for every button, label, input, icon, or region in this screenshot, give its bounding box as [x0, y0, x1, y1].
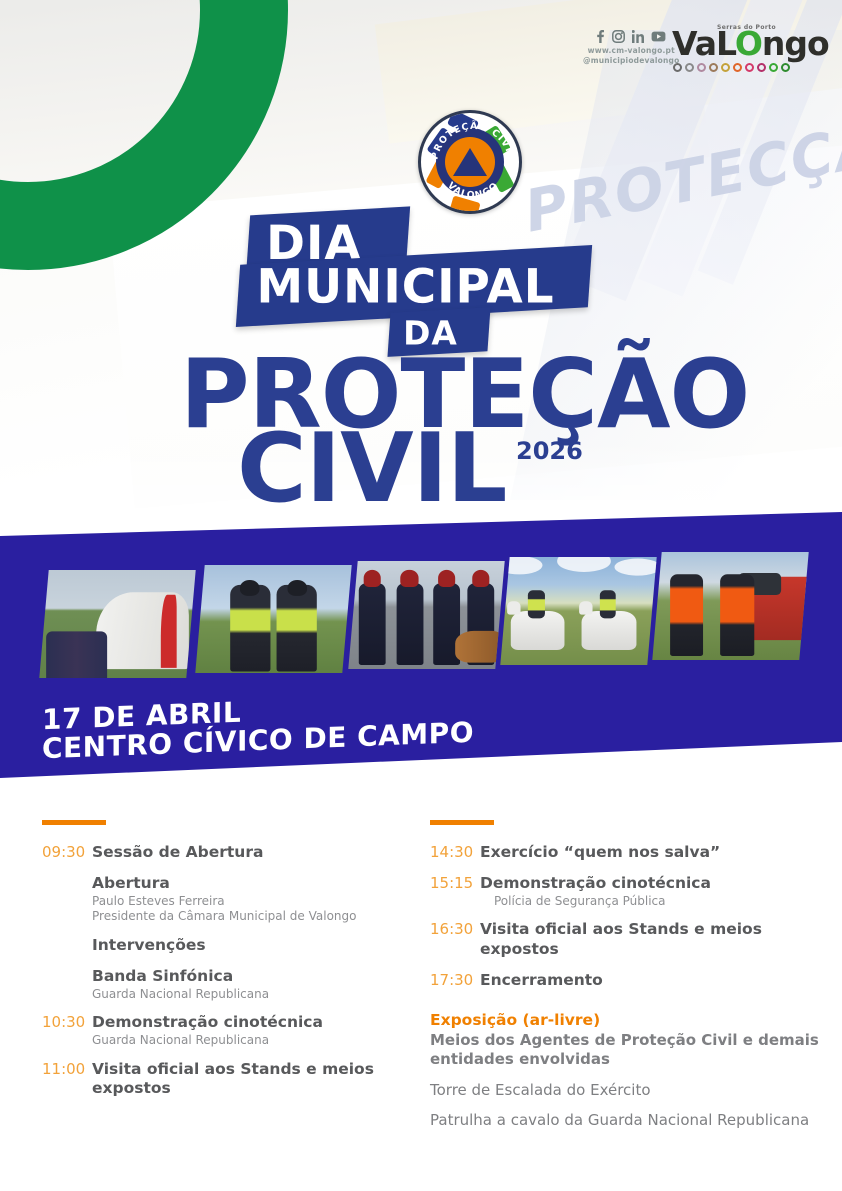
program-subtitle: Paulo Esteves Ferreira — [92, 894, 422, 910]
protecao-civil-emblem: PROTEÇÃO CIVIL VALONGO — [418, 110, 522, 214]
valongo-dots — [672, 63, 790, 72]
program-title: Encerramento — [480, 971, 822, 991]
program-subtitle: Guarda Nacional Republicana — [92, 987, 422, 1003]
program-time: 10:30 — [42, 1013, 92, 1033]
valongo-dot — [709, 63, 718, 72]
exposicao-heading: Exposição (ar-livre) — [430, 1011, 822, 1029]
program-column-morning: 09:30Sessão de AberturaAberturaPaulo Est… — [42, 820, 422, 1110]
program-title: Demonstração cinotécnica — [92, 1013, 422, 1033]
program-title: Banda Sinfónica — [92, 967, 422, 987]
program-subrow: Intervenções — [92, 936, 422, 956]
program-subtitle: Presidente da Câmara Municipal de Valong… — [92, 909, 422, 925]
social-urls: www.cm-valongo.pt @municipiodevalongo — [583, 46, 679, 66]
program-subtitle: Polícia de Segurança Pública — [494, 894, 822, 910]
accent-rule-left — [42, 820, 106, 825]
valongo-dot — [769, 63, 778, 72]
program-row: 10:30Demonstração cinotécnicaGuarda Naci… — [42, 1013, 422, 1048]
valongo-word-part2: ngo — [762, 24, 829, 63]
program-time: 15:15 — [430, 874, 480, 894]
program-row-body: Demonstração cinotécnicaGuarda Nacional … — [92, 1013, 422, 1048]
program-title: Visita oficial aos Stands e meios expost… — [92, 1060, 422, 1100]
website-url[interactable]: www.cm-valongo.pt — [583, 46, 679, 56]
year-label: 2026 — [516, 437, 583, 465]
program-row-body: Sessão de Abertura — [92, 843, 422, 863]
program-row-body: Encerramento — [480, 971, 822, 991]
valongo-dot — [721, 63, 730, 72]
valongo-word-o: O — [735, 24, 762, 63]
program-title: Demonstração cinotécnica — [480, 874, 822, 894]
emblem-bottom-text: VALONGO — [445, 180, 501, 201]
main-title-civil: CIVIL — [237, 424, 506, 514]
linkedin-icon[interactable] — [632, 30, 644, 43]
photo-tent-protecao-civil — [39, 570, 195, 678]
program-column-afternoon: 14:30Exercício “quem nos salva”15:15Demo… — [430, 820, 822, 1131]
emblem-top-text: PROTEÇÃO CIVIL — [429, 121, 516, 161]
social-block: www.cm-valongo.pt @municipiodevalongo — [583, 30, 679, 66]
program-row-body: Visita oficial aos Stands e meios expost… — [92, 1060, 422, 1100]
program-row: 15:15Demonstração cinotécnicaPolícia de … — [430, 874, 822, 909]
facebook-icon[interactable] — [596, 30, 605, 43]
exposicao-block: Exposição (ar-livre) Meios dos Agentes d… — [430, 1011, 822, 1131]
program-title: Sessão de Abertura — [92, 843, 422, 863]
accent-rule-right — [430, 820, 494, 825]
valongo-dot — [781, 63, 790, 72]
emblem-ring-text: PROTEÇÃO CIVIL VALONGO — [421, 113, 522, 214]
program-time: 17:30 — [430, 971, 480, 991]
valongo-word-part1: VaL — [672, 24, 735, 63]
poster: PROTECÇÃO CIVIL www.cm-valongo.pt @munic… — [0, 0, 842, 1191]
social-icons — [583, 30, 679, 43]
program-row: 11:00Visita oficial aos Stands e meios e… — [42, 1060, 422, 1100]
photo-k9-team-marching — [348, 561, 504, 669]
valongo-dot — [697, 63, 706, 72]
valongo-logo: Serras do Porto VaLOngo — [672, 24, 790, 72]
program-title: Exercício “quem nos salva” — [480, 843, 822, 863]
youtube-icon[interactable] — [651, 31, 666, 42]
photo-rescue-crew-truck — [652, 552, 808, 660]
program-row: 14:30Exercício “quem nos salva” — [430, 843, 822, 863]
program-row: 16:30Visita oficial aos Stands e meios e… — [430, 920, 822, 960]
photo-strip — [0, 556, 842, 676]
program-time: 16:30 — [430, 920, 480, 940]
exposicao-item: Torre de Escalada do Exército — [430, 1081, 822, 1101]
exposicao-item: Patrulha a cavalo da Guarda Nacional Rep… — [430, 1111, 822, 1131]
program-time: 09:30 — [42, 843, 92, 863]
program-row: 17:30Encerramento — [430, 971, 822, 991]
social-handle[interactable]: @municipiodevalongo — [583, 56, 679, 66]
program-time: 11:00 — [42, 1060, 92, 1080]
photo-mounted-patrol — [500, 557, 656, 665]
valongo-wordmark: VaLOngo — [672, 27, 790, 60]
program-section: 09:30Sessão de AberturaAberturaPaulo Est… — [0, 820, 842, 1191]
program-title: Visita oficial aos Stands e meios expost… — [480, 920, 822, 960]
instagram-icon[interactable] — [612, 30, 625, 43]
valongo-dot — [745, 63, 754, 72]
program-row: 09:30Sessão de Abertura — [42, 843, 422, 863]
program-time: 14:30 — [430, 843, 480, 863]
title-banner-municipal-label: MUNICIPAL — [257, 263, 555, 310]
program-row-body: Visita oficial aos Stands e meios expost… — [480, 920, 822, 960]
program-row-body: Demonstração cinotécnicaPolícia de Segur… — [480, 874, 822, 909]
program-row-body: Exercício “quem nos salva” — [480, 843, 822, 863]
photo-two-officers — [195, 565, 351, 673]
valongo-dot — [733, 63, 742, 72]
valongo-dot — [673, 63, 682, 72]
program-title: Abertura — [92, 874, 422, 894]
exposicao-lead: Meios dos Agentes de Proteção Civil e de… — [430, 1031, 822, 1070]
program-subrow: Banda SinfónicaGuarda Nacional Republica… — [92, 967, 422, 1002]
program-title: Intervenções — [92, 936, 422, 956]
valongo-dot — [757, 63, 766, 72]
program-subrow: AberturaPaulo Esteves FerreiraPresidente… — [92, 874, 422, 925]
program-subtitle: Guarda Nacional Republicana — [92, 1033, 422, 1049]
valongo-dot — [685, 63, 694, 72]
